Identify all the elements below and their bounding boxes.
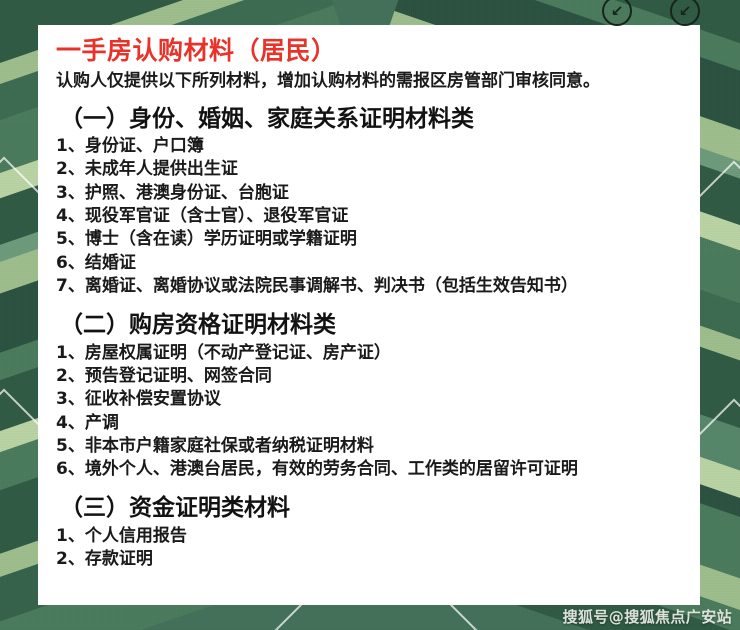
list-item: 6、结婚证 <box>56 252 684 275</box>
list-item: 3、征收补偿安置协议 <box>56 388 684 411</box>
page-title: 一手房认购材料（居民） <box>56 36 684 66</box>
circle-arrow-down-left-icon[interactable]: ↙ <box>602 0 632 26</box>
list-item: 2、预告登记证明、网签合同 <box>56 365 684 388</box>
circle-arrow-down-left-icon[interactable]: ↙ <box>670 0 700 26</box>
section-funds: （三）资金证明类材料 1、个人信用报告 2、存款证明 <box>56 495 684 571</box>
section-heading: （三）资金证明类材料 <box>56 495 684 523</box>
list-item: 1、房屋权属证明（不动产登记证、房产证） <box>56 342 684 365</box>
list-item: 4、现役军官证（含士官）、退役军官证 <box>56 205 684 228</box>
list-item: 5、博士（含在读）学历证明或学籍证明 <box>56 228 684 251</box>
list-item: 1、个人信用报告 <box>56 525 684 548</box>
list-item: 2、存款证明 <box>56 548 684 571</box>
slide-canvas: ↙ ↙ 一手房认购材料（居民） 认购人仅提供以下所列材料，增加认购材料的需报区房… <box>0 0 740 630</box>
list-item: 2、未成年人提供出生证 <box>56 158 684 181</box>
page-subtitle: 认购人仅提供以下所列材料，增加认购材料的需报区房管部门审核同意。 <box>56 70 684 92</box>
list-item: 6、境外个人、港澳台居民，有效的劳务合同、工作类的居留许可证明 <box>56 458 684 481</box>
list-item: 5、非本市户籍家庭社保或者纳税证明材料 <box>56 435 684 458</box>
section-identity: （一）身份、婚姻、家庭关系证明材料类 1、身份证、户口簿 2、未成年人提供出生证… <box>56 106 684 299</box>
section-purchase-qualification: （二）购房资格证明材料类 1、房屋权属证明（不动产登记证、房产证） 2、预告登记… <box>56 312 684 481</box>
list-item: 7、离婚证、离婚协议或法院民事调解书、判决书（包括生效告知书） <box>56 275 684 298</box>
content-card: 一手房认购材料（居民） 认购人仅提供以下所列材料，增加认购材料的需报区房管部门审… <box>38 25 700 605</box>
section-heading: （二）购房资格证明材料类 <box>56 312 684 340</box>
top-right-icon-group: ↙ ↙ <box>602 0 700 26</box>
list-item: 3、护照、港澳身份证、台胞证 <box>56 182 684 205</box>
watermark: 搜狐号@搜狐焦点广安站 <box>563 606 732 627</box>
list-item: 4、产调 <box>56 412 684 435</box>
list-item: 1、身份证、户口簿 <box>56 135 684 158</box>
section-heading: （一）身份、婚姻、家庭关系证明材料类 <box>56 106 684 134</box>
